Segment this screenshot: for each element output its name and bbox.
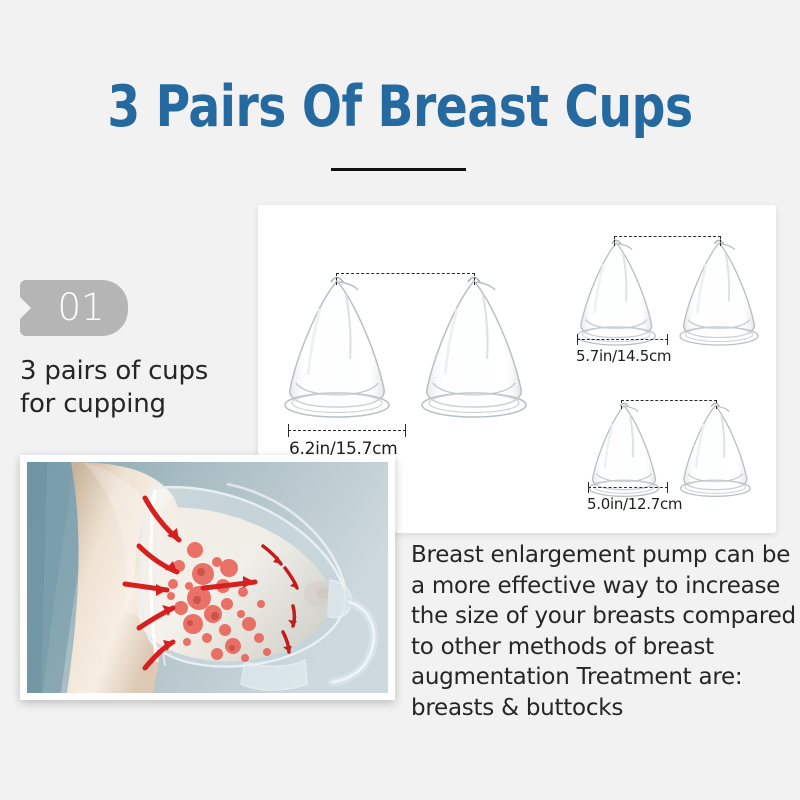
cup-shape [680, 240, 758, 345]
medium-bracket-tick-left [614, 236, 615, 246]
cup-shape [577, 240, 655, 345]
title-divider [331, 168, 466, 171]
small-cup-size-label: 5.0in/12.7cm [587, 495, 682, 513]
large-cup-dim-line [288, 430, 406, 431]
medium-cup-pair [568, 231, 768, 366]
feature-number-badge: 01 [20, 280, 128, 336]
small-bracket-tick-left [621, 400, 622, 409]
large-cup-top-bracket [336, 273, 475, 274]
infographic-page: 3 Pairs Of Breast Cups 01 3 pairs of cup… [0, 0, 800, 800]
medium-cup-dim-line [577, 339, 668, 340]
breast-cupping-photo-frame [20, 455, 395, 700]
small-cup-dim-line [588, 487, 668, 488]
breast-cupping-photo [27, 462, 388, 693]
cup-shape [285, 278, 389, 418]
medium-dim-tick-right [667, 334, 668, 345]
medium-cup-top-bracket [614, 236, 721, 237]
description-text: Breast enlargement pump can be a more ef… [411, 540, 800, 723]
large-cup-pair [276, 265, 536, 445]
small-bracket-tick-right [716, 400, 717, 409]
badge-notch-icon [20, 297, 31, 319]
small-dim-tick-right [667, 482, 668, 493]
large-bracket-tick-right [474, 273, 475, 285]
large-dim-tick-right [405, 424, 406, 437]
small-dim-tick-left [588, 482, 589, 493]
medium-dim-tick-left [577, 334, 578, 345]
page-title: 3 Pairs Of Breast Cups [32, 78, 768, 138]
large-bracket-tick-left [336, 273, 337, 285]
cup-shape [422, 278, 526, 418]
feature-caption: 3 pairs of cups for cupping [20, 355, 240, 422]
large-dim-tick-left [288, 424, 289, 437]
cup-shape [681, 403, 750, 496]
small-cup-top-bracket [621, 400, 717, 401]
cup-shape [589, 403, 658, 496]
medium-cup-size-label: 5.7in/14.5cm [576, 347, 671, 365]
medium-bracket-tick-right [720, 236, 721, 246]
